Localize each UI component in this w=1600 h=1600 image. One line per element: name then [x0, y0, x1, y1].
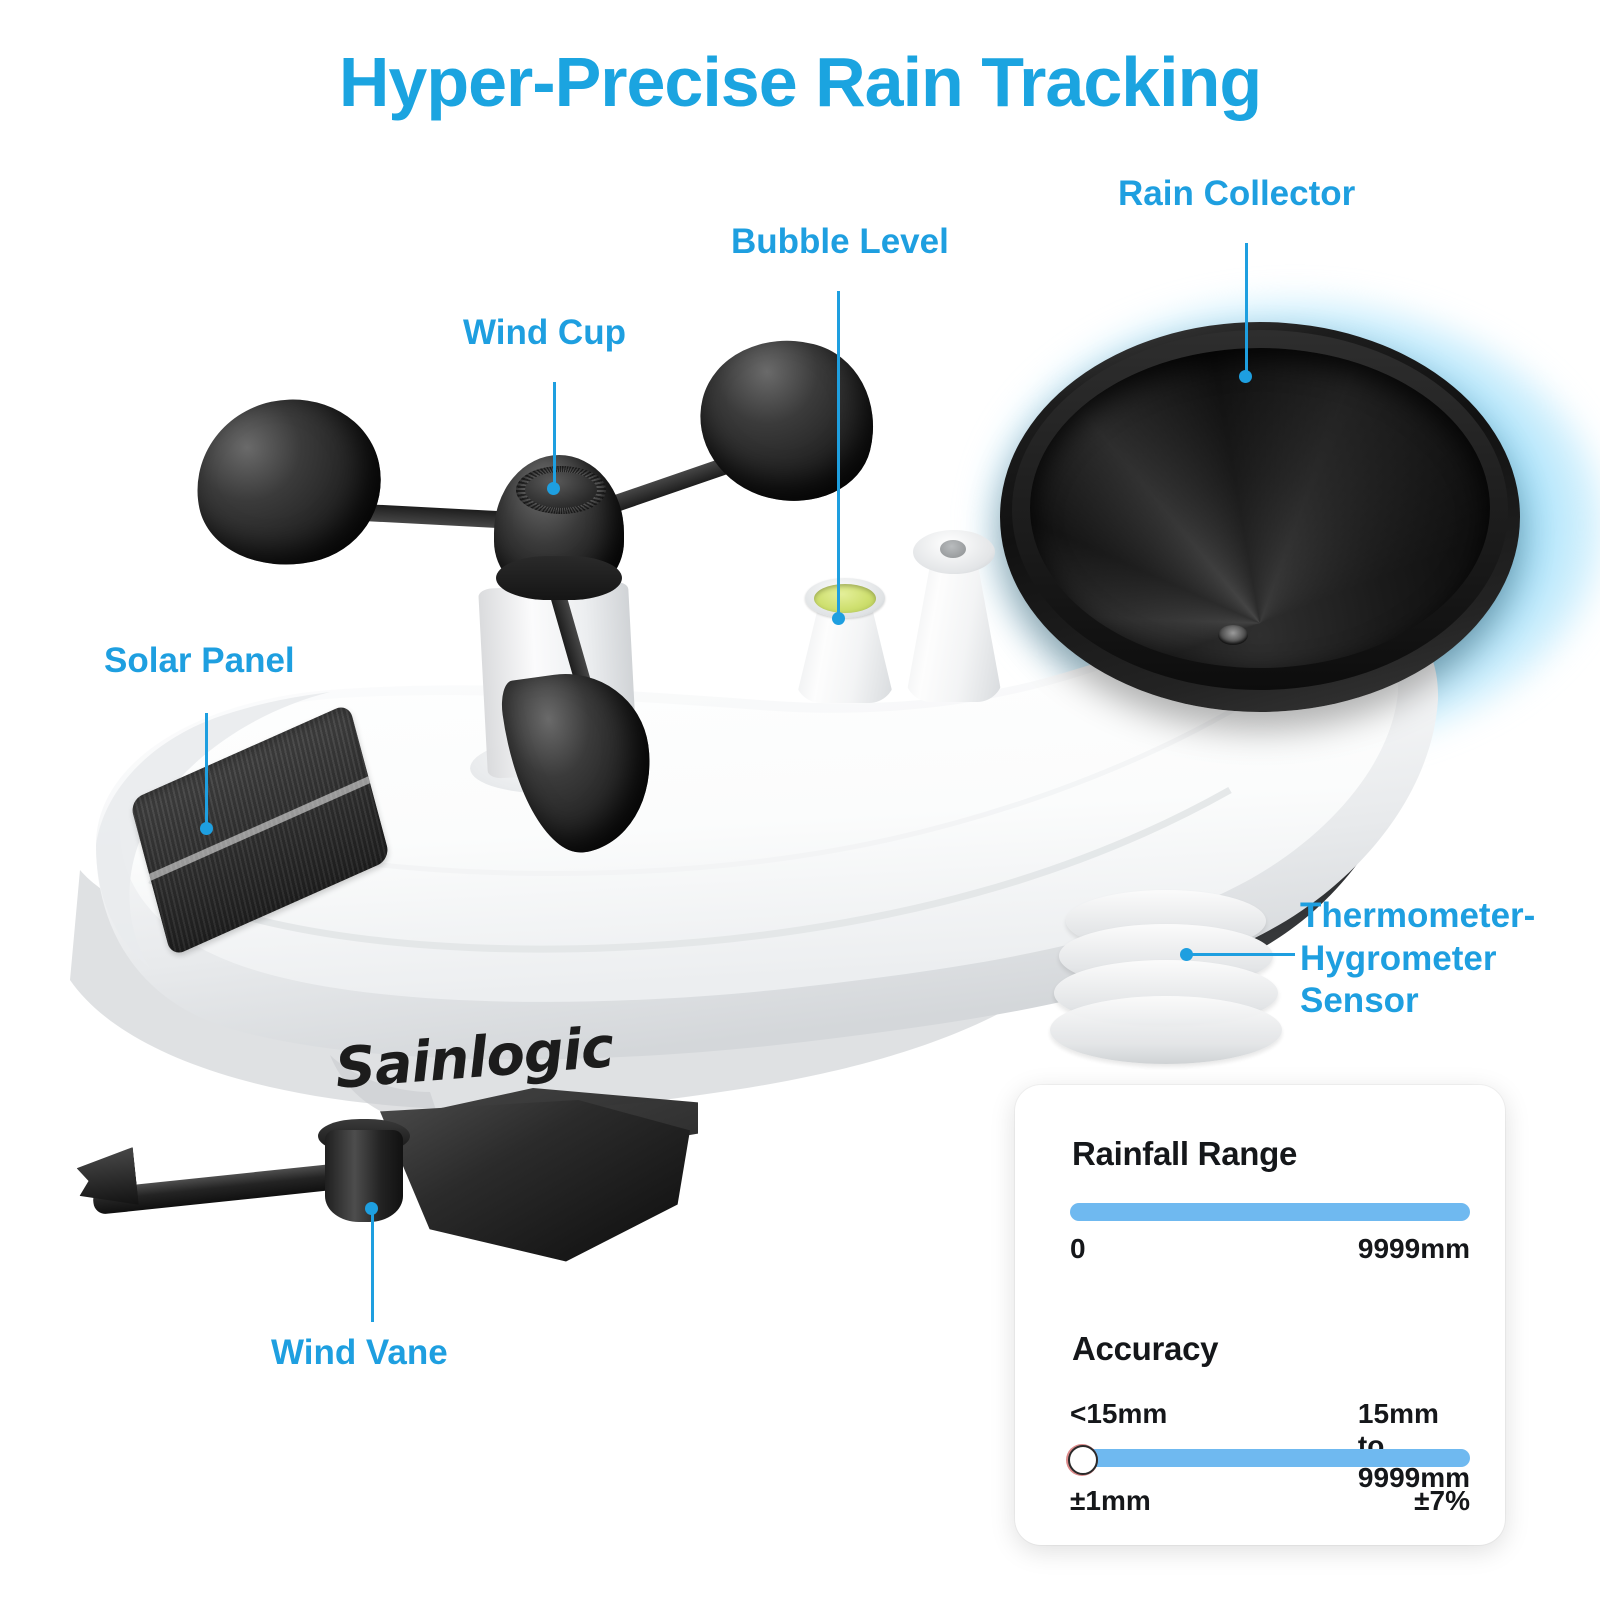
leader-dot-rain-collector [1239, 370, 1252, 383]
leader-dot-thermometer-hygrometer-sensor [1180, 948, 1193, 961]
callout-label-solar-panel: Solar Panel [104, 640, 295, 683]
bubble-level-glass [814, 584, 876, 613]
leader-line-wind-cup [553, 382, 556, 487]
accuracy-right-value: ±7% [1414, 1485, 1470, 1517]
callout-label-wind-vane: Wind Vane [271, 1332, 448, 1375]
rainfall-range-heading: Rainfall Range [1072, 1135, 1297, 1173]
leader-line-solar-panel [205, 713, 208, 828]
rainfall-range-min-label: 0 [1070, 1233, 1086, 1265]
accuracy-slider-handle[interactable] [1068, 1445, 1098, 1475]
vent-sensor-dot [940, 540, 966, 558]
leader-line-bubble-level [837, 291, 840, 618]
accuracy-bar[interactable] [1070, 1449, 1470, 1467]
accuracy-right-range-label: 15mm to 9999mm [1358, 1398, 1470, 1494]
callout-label-rain-collector: Rain Collector [1118, 173, 1355, 216]
rain-collector-drain-hole [1218, 625, 1248, 645]
leader-dot-wind-cup [547, 482, 560, 495]
rain-collector-funnel [1030, 348, 1490, 668]
leader-line-rain-collector [1245, 243, 1248, 376]
anemometer-hub-collar [496, 556, 622, 600]
leader-dot-solar-panel [200, 822, 213, 835]
leader-dot-bubble-level [832, 612, 845, 625]
leader-line-wind-vane [371, 1212, 374, 1322]
rainfall-range-max-label: 9999mm [1358, 1233, 1470, 1265]
callout-label-thermometer-hygrometer-sensor: Thermometer- Hygrometer Sensor [1300, 895, 1535, 1023]
infographic-stage: Hyper-Precise Rain Tracking [0, 0, 1600, 1600]
rainfall-range-bar[interactable] [1070, 1203, 1470, 1221]
anemometer-hub-knurled-top [516, 466, 606, 514]
accuracy-left-value: ±1mm [1070, 1485, 1151, 1517]
wind-vane-hub [325, 1130, 403, 1222]
thermometer-hygrometer-shield [1050, 890, 1285, 1070]
accuracy-heading: Accuracy [1072, 1330, 1218, 1368]
leader-dot-wind-vane [365, 1202, 378, 1215]
spec-card: Rainfall Range 0 9999mm Accuracy <15mm 1… [1015, 1085, 1505, 1545]
leader-line-thermometer-hygrometer-sensor [1190, 953, 1295, 956]
callout-label-wind-cup: Wind Cup [463, 312, 626, 355]
accuracy-left-range-label: <15mm [1070, 1398, 1167, 1430]
callout-label-bubble-level: Bubble Level [731, 221, 949, 264]
